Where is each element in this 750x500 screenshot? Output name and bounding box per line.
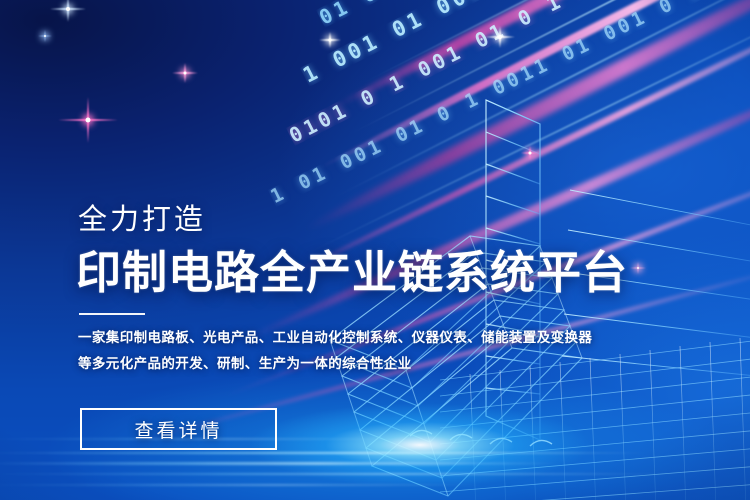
hero-banner: 01 0010 1 0011 01 0 1101 0 1 0 1001 01 1… [0, 0, 750, 500]
description-line-1: 一家集印制电路板、光电产品、工业自动化控制系统、仪器仪表、储能装置及变换器 [78, 325, 598, 351]
divider-line [79, 313, 145, 315]
hero-headline: 印制电路全产业链系统平台 [76, 236, 628, 301]
hero-eyebrow: 全力打造 [78, 196, 206, 238]
description-line-2: 等多元化产品的开发、研制、生产为一体的综合性企业 [78, 351, 598, 377]
hero-description: 一家集印制电路板、光电产品、工业自动化控制系统、仪器仪表、储能装置及变换器 等多… [78, 325, 598, 377]
view-details-button[interactable]: 查看详情 [80, 408, 277, 450]
hero-content: 全力打造 印制电路全产业链系统平台 一家集印制电路板、光电产品、工业自动化控制系… [78, 0, 698, 500]
